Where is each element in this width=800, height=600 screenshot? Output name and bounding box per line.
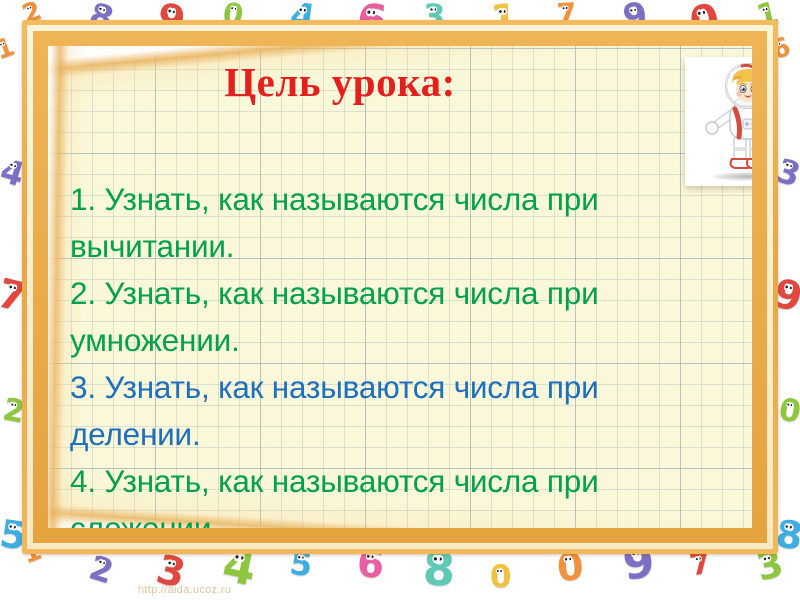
source-watermark: http://aida.ucoz.ru	[138, 584, 231, 596]
goal-list: 1. Узнать, как называются числа при вычи…	[70, 176, 734, 528]
astronaut-shadow	[711, 172, 752, 181]
slide-content: Цель урока: 1. Узнать, как называются чи…	[48, 46, 752, 528]
goal-item-3: 3. Узнать, как называются числа при деле…	[70, 364, 734, 458]
goal-item-4: 4. Узнать, как называются числа при слож…	[70, 458, 734, 528]
page-title: Цель урока:	[48, 58, 752, 106]
frame-inner-edge: Цель урока: 1. Узнать, как называются чи…	[33, 31, 767, 543]
goal-item-2: 2. Узнать, как называются числа при умно…	[70, 270, 734, 364]
astronaut-icon	[701, 63, 753, 179]
slide-frame: Цель урока: 1. Узнать, как называются чи…	[22, 20, 778, 554]
slide-root: 289046317901 123456800973 14725 63908 Це…	[0, 0, 800, 600]
astronaut-image-card	[685, 57, 752, 186]
graph-paper: Цель урока: 1. Узнать, как называются чи…	[48, 46, 752, 528]
goal-item-1: 1. Узнать, как называются числа при вычи…	[70, 176, 734, 270]
